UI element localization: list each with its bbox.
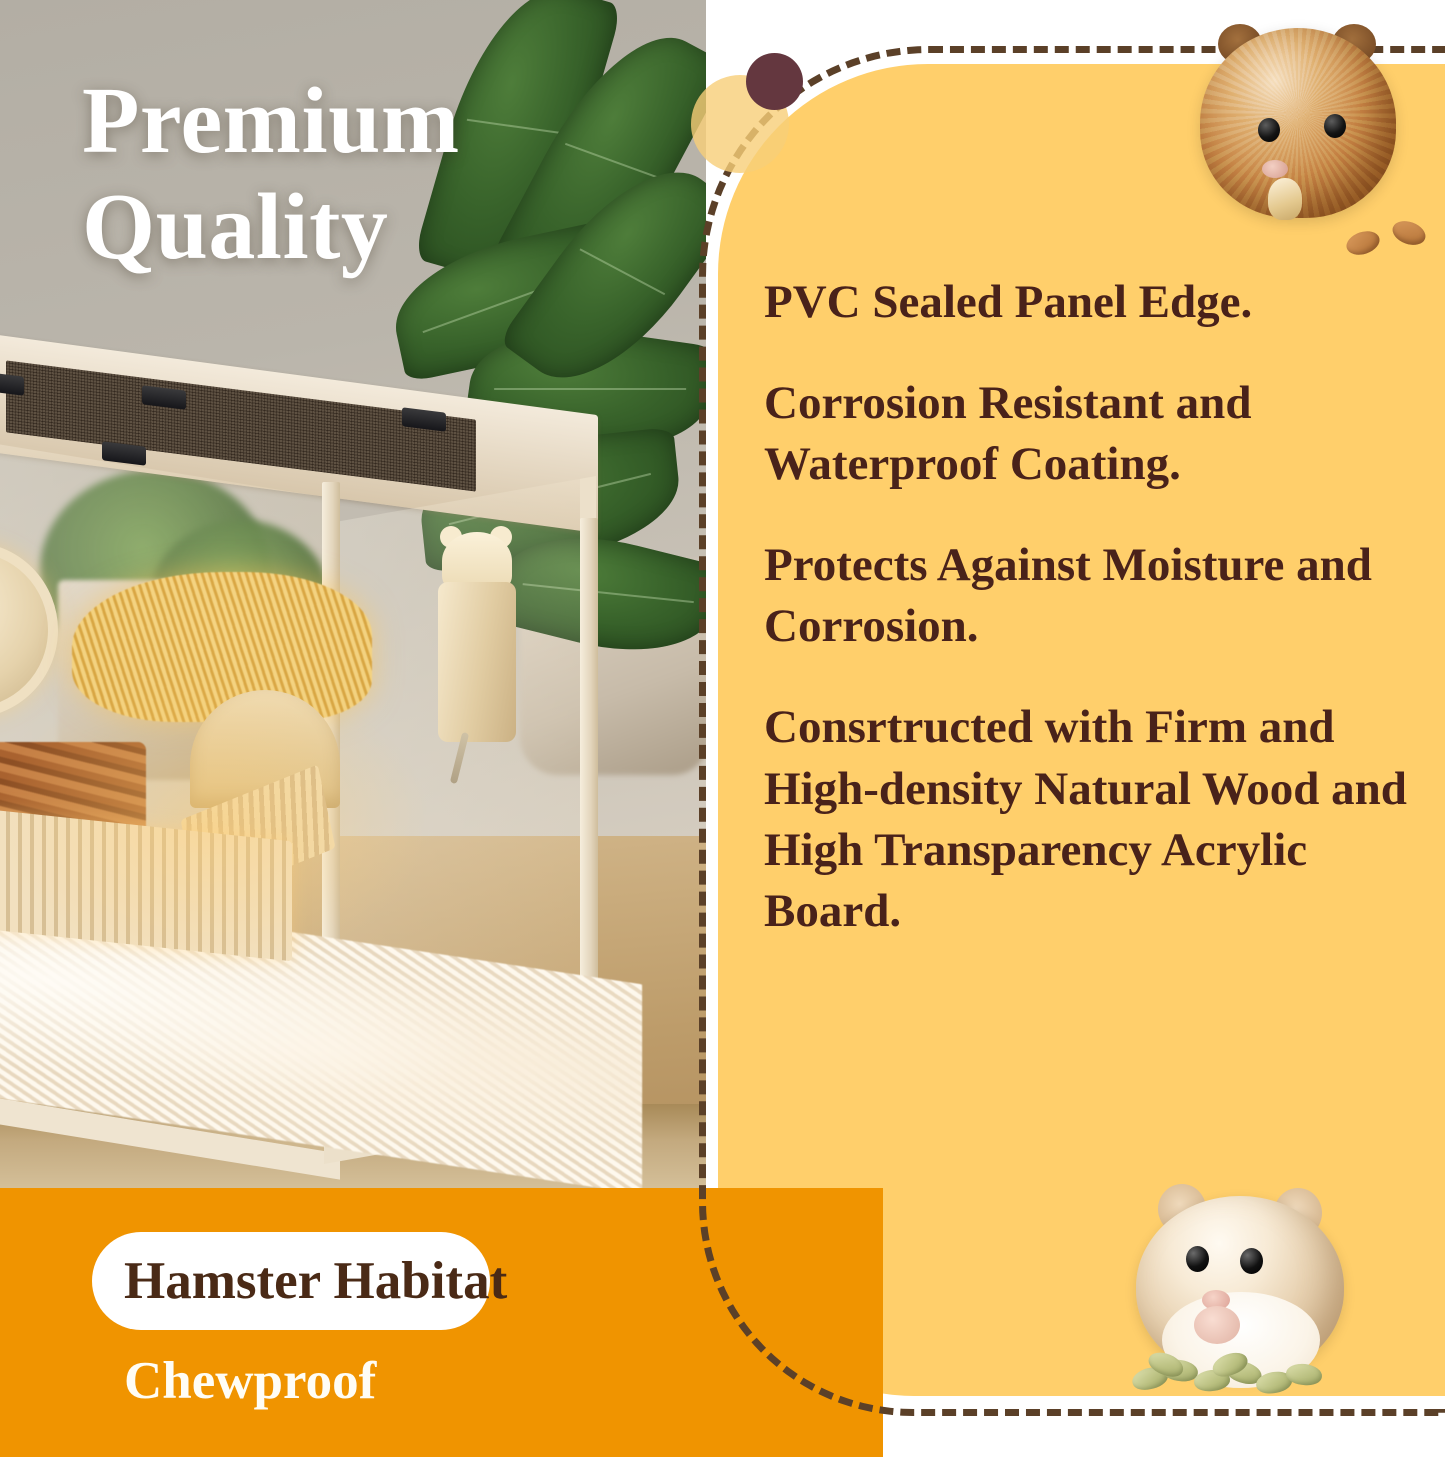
hamster-eye [1258,118,1280,142]
bottle-body [438,582,516,742]
hamster-eye [1324,114,1346,138]
hamster-paw [1194,1306,1240,1344]
hamster-body [1136,1196,1344,1378]
page-title: Premium Quality [82,68,642,280]
hamster-photo-top [1196,18,1404,230]
hamster-eye [1186,1246,1209,1272]
product-photo: Premium Quality [0,0,706,1194]
hay-pile [72,572,372,722]
water-bottle-icon [428,532,524,782]
cage-icon [0,372,642,1142]
decorative-circle-brown [746,53,803,110]
hamster-food-seed [1268,178,1302,220]
hamster-eye [1240,1248,1263,1274]
badge-label: Hamster Habitat [124,1248,684,1314]
pumpkin-seed-pile [1128,1354,1348,1400]
infographic-canvas: Premium Quality PVC Sealed Panel Edge. C… [0,0,1445,1457]
hamster-nose [1262,160,1288,178]
badge-sub-label: Chewproof [124,1348,684,1414]
